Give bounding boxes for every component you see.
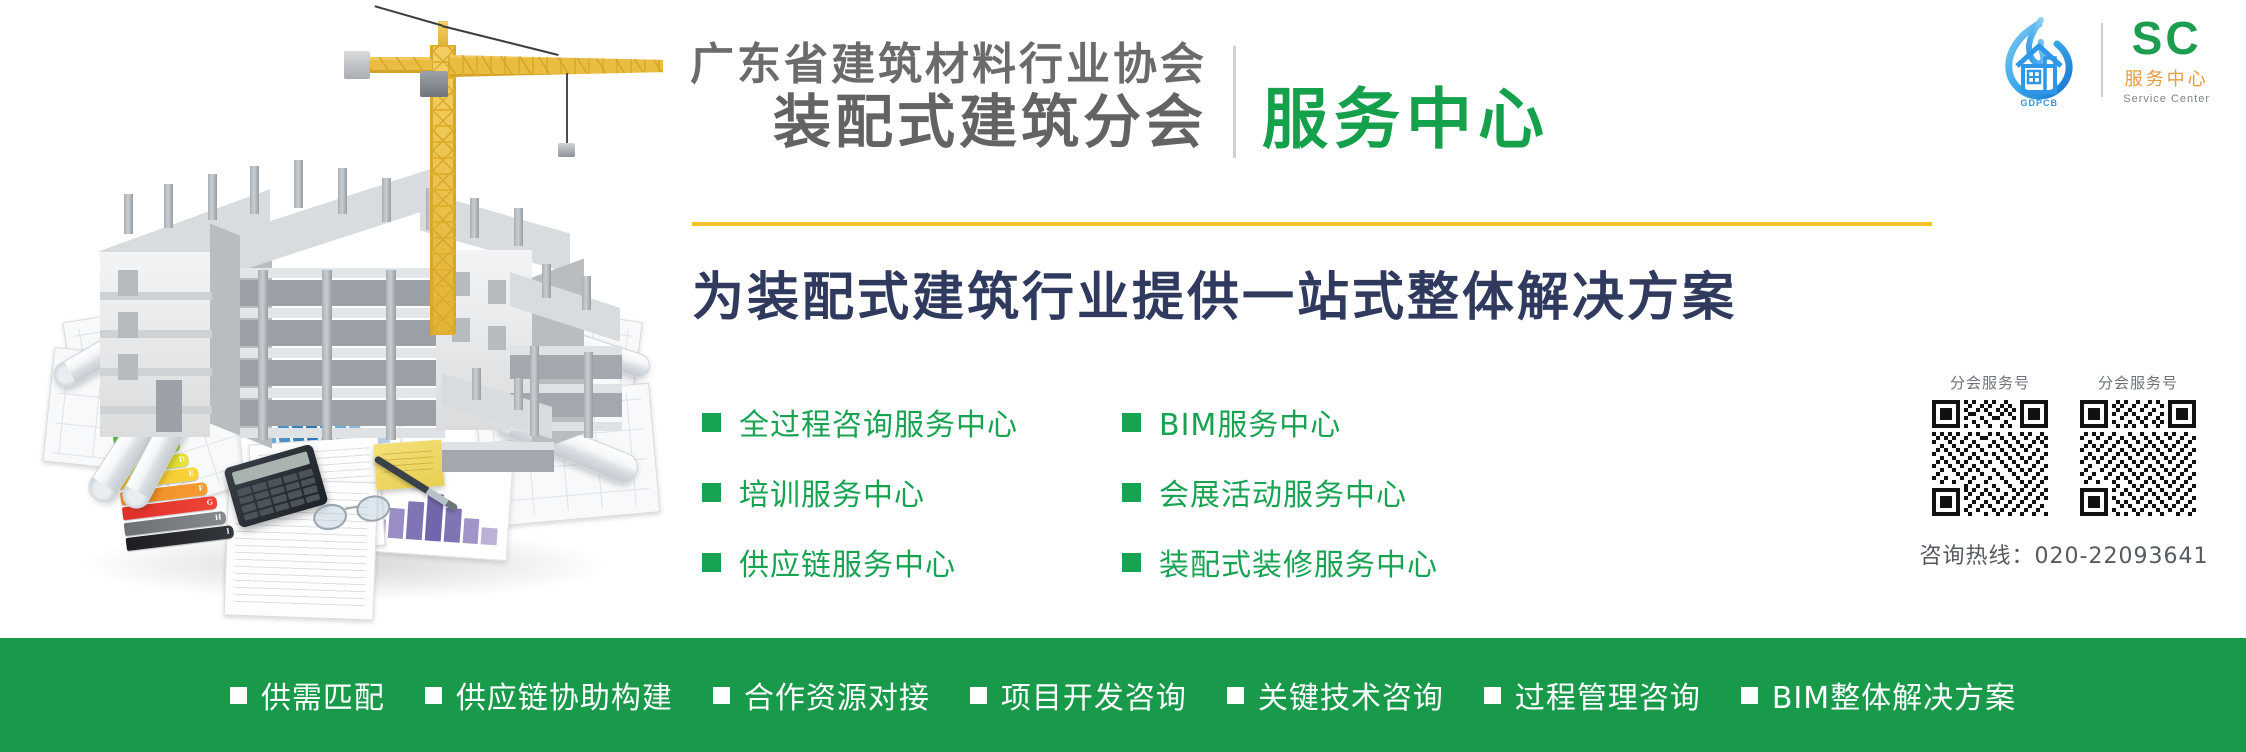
title-divider bbox=[1233, 46, 1236, 158]
bullet-square-icon bbox=[1122, 413, 1141, 432]
qr-caption: 分会服务号 bbox=[1928, 372, 2052, 393]
bottom-item-label: 供应链协助构建 bbox=[456, 673, 673, 717]
qr-code-image[interactable] bbox=[2080, 400, 2196, 516]
service-list: 全过程咨询服务中心 BIM服务中心 培训服务中心 会展活动服务中心 供应链服务中… bbox=[702, 400, 1542, 584]
service-item-label: 培训服务中心 bbox=[739, 470, 925, 514]
org-name-line2: 装配式建筑分会 bbox=[773, 91, 1207, 155]
qr-caption: 分会服务号 bbox=[2076, 372, 2200, 393]
bottom-item-label: 供需匹配 bbox=[261, 673, 385, 717]
service-item-label: 会展活动服务中心 bbox=[1159, 470, 1407, 514]
service-item-label: 全过程咨询服务中心 bbox=[739, 400, 1018, 444]
bullet-square-icon bbox=[1122, 553, 1141, 572]
banner-top-area: A B C D E F G H I bbox=[0, 0, 2246, 638]
promo-banner: A B C D E F G H I bbox=[0, 0, 2246, 752]
bottom-item[interactable]: 合作资源对接 bbox=[713, 673, 930, 717]
service-item[interactable]: BIM服务中心 bbox=[1122, 400, 1542, 444]
bottom-item[interactable]: 关键技术咨询 bbox=[1227, 673, 1444, 717]
service-item[interactable]: 会展活动服务中心 bbox=[1122, 470, 1542, 514]
bullet-square-icon bbox=[702, 413, 721, 432]
org-title-row: 广东省建筑材料行业协会 装配式建筑分会 服务中心 bbox=[690, 40, 1550, 162]
service-item[interactable]: 供应链服务中心 bbox=[702, 540, 1122, 584]
bullet-square-icon bbox=[713, 687, 730, 704]
bottom-item[interactable]: 项目开发咨询 bbox=[970, 673, 1187, 717]
bullet-square-icon bbox=[1484, 687, 1501, 704]
service-item-label: BIM服务中心 bbox=[1159, 400, 1341, 444]
qr-code-image[interactable] bbox=[1932, 400, 2048, 516]
bottom-item-label: 关键技术咨询 bbox=[1258, 673, 1444, 717]
qr-contact-area: 分会服务号 bbox=[1914, 372, 2214, 570]
bullet-square-icon bbox=[1227, 687, 1244, 704]
bottom-item[interactable]: 供需匹配 bbox=[230, 673, 385, 717]
logo-cn-label: 服务中心 bbox=[2125, 65, 2209, 91]
bottom-item-label: BIM整体解决方案 bbox=[1772, 673, 2016, 717]
bottom-item[interactable]: BIM整体解决方案 bbox=[1741, 673, 2016, 717]
logo-mark-caption: GDPCB bbox=[1997, 98, 2081, 108]
banner-content: 广东省建筑材料行业协会 装配式建筑分会 服务中心 为装配式建筑行业提供一站式整体… bbox=[690, 0, 2246, 638]
bottom-item-label: 合作资源对接 bbox=[744, 673, 930, 717]
logo-initials: SC bbox=[2132, 15, 2202, 61]
service-item-label: 供应链服务中心 bbox=[739, 540, 956, 584]
service-item[interactable]: 培训服务中心 bbox=[702, 470, 1122, 514]
logo-divider bbox=[2101, 23, 2103, 97]
main-tagline: 为装配式建筑行业提供一站式整体解决方案 bbox=[692, 255, 1737, 330]
bullet-square-icon bbox=[702, 483, 721, 502]
hotline-text: 咨询热线：020-22093641 bbox=[1914, 538, 2214, 570]
house-flame-logo-icon: GDPCB bbox=[1997, 14, 2081, 106]
qr-code-block[interactable]: 分会服务号 bbox=[1928, 372, 2052, 516]
service-center-title: 服务中心 bbox=[1262, 66, 1550, 162]
yellow-divider-rule bbox=[692, 222, 1932, 226]
bullet-square-icon bbox=[702, 553, 721, 572]
bullet-square-icon bbox=[230, 687, 247, 704]
logo-en-label: Service Center bbox=[2123, 93, 2210, 105]
service-item[interactable]: 全过程咨询服务中心 bbox=[702, 400, 1122, 444]
bottom-item-label: 过程管理咨询 bbox=[1515, 673, 1701, 717]
org-name-line1: 广东省建筑材料行业协会 bbox=[690, 40, 1207, 89]
bullet-square-icon bbox=[970, 687, 987, 704]
construction-illustration: A B C D E F G H I bbox=[30, 10, 670, 630]
bottom-item[interactable]: 过程管理咨询 bbox=[1484, 673, 1701, 717]
bullet-square-icon bbox=[1741, 687, 1758, 704]
bottom-item[interactable]: 供应链协助构建 bbox=[425, 673, 673, 717]
bullet-square-icon bbox=[1122, 483, 1141, 502]
bottom-item-label: 项目开发咨询 bbox=[1001, 673, 1187, 717]
bottom-feature-bar: 供需匹配 供应链协助构建 合作资源对接 项目开发咨询 关键技术咨询 过程管理咨询… bbox=[0, 638, 2246, 752]
qr-code-block[interactable]: 分会服务号 bbox=[2076, 372, 2200, 516]
bullet-square-icon bbox=[425, 687, 442, 704]
brand-logo[interactable]: GDPCB SC 服务中心 Service Center bbox=[1997, 14, 2210, 106]
service-item[interactable]: 装配式装修服务中心 bbox=[1122, 540, 1542, 584]
service-item-label: 装配式装修服务中心 bbox=[1159, 540, 1438, 584]
tower-crane bbox=[270, 15, 670, 335]
